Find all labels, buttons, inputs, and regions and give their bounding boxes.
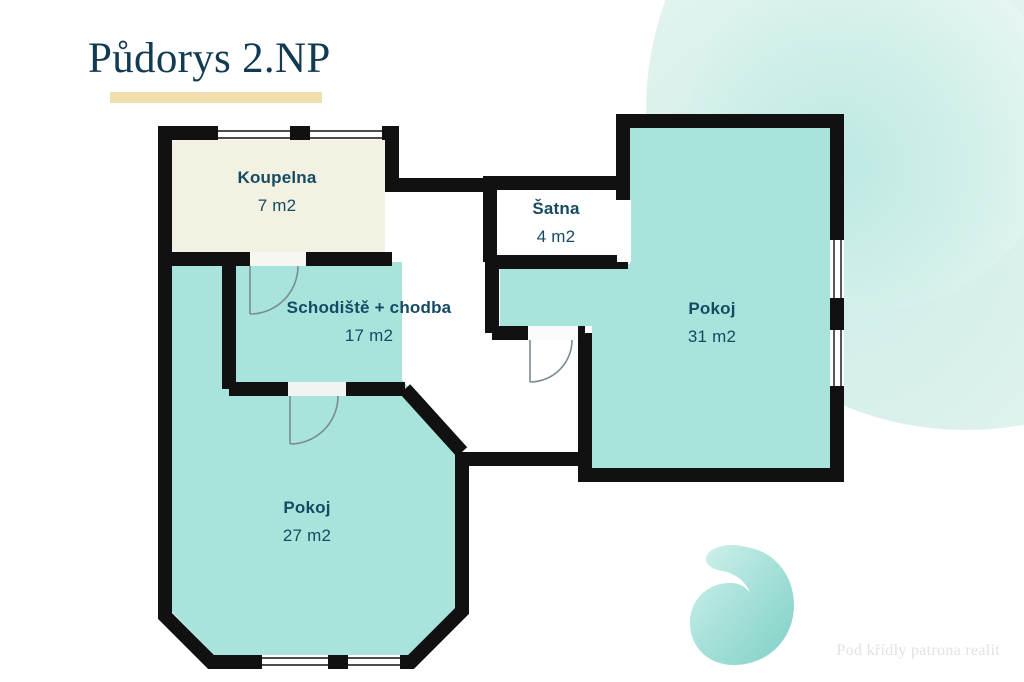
window-bottom-2 xyxy=(348,655,400,669)
floorplan-drawing xyxy=(0,0,1024,682)
brand-logo xyxy=(690,545,794,665)
window-right-1 xyxy=(830,240,844,298)
watermark-text: Pod křídly patrona realit xyxy=(837,642,1000,660)
window-top-1 xyxy=(218,126,290,140)
opening-satna-pokoj xyxy=(617,200,631,262)
window-bottom-1 xyxy=(262,655,328,669)
floorplan-page: Půdorys 2.NP xyxy=(0,0,1024,682)
room-fill-koupelna xyxy=(172,140,385,252)
window-top-2 xyxy=(310,126,382,140)
window-right-2 xyxy=(830,330,844,386)
room-fill-satna xyxy=(497,190,620,254)
